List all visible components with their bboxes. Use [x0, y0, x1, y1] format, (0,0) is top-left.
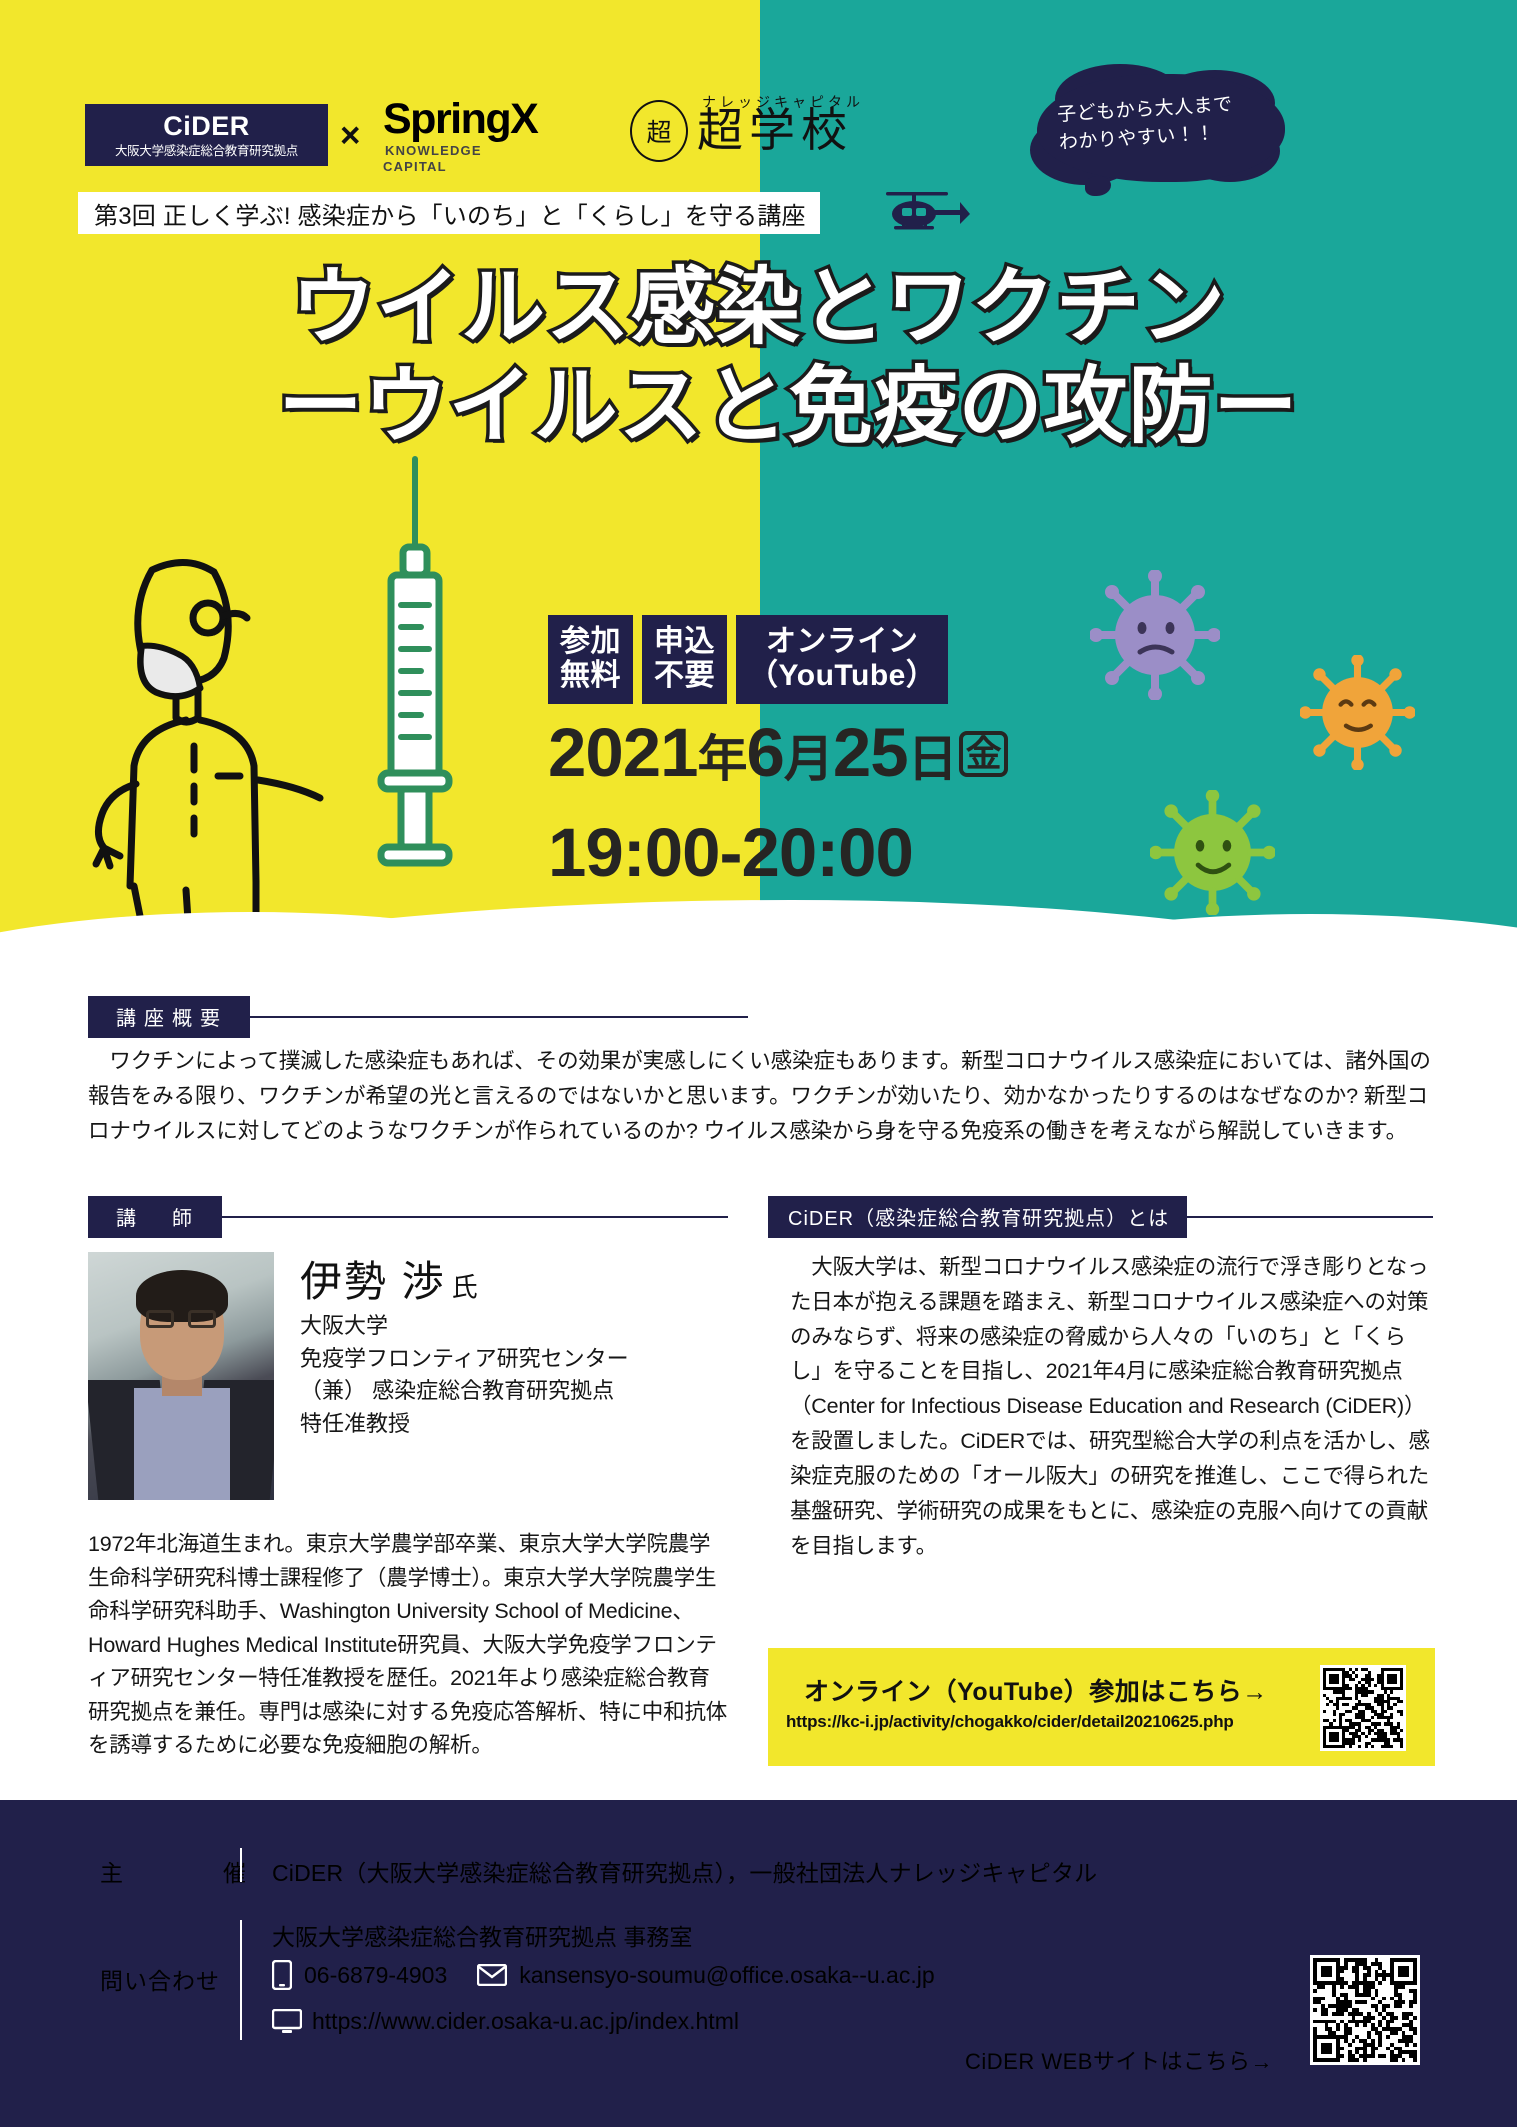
- cho-circle-icon: 超: [630, 100, 688, 162]
- footer-host-value: CiDER（大阪大学感染症総合教育研究拠点），一般社団法人ナレッジキャピタル: [272, 1854, 1097, 1888]
- virus-icon-green: [1150, 790, 1275, 915]
- event-month-unit: 月: [784, 731, 833, 787]
- photo-shirt: [134, 1388, 230, 1500]
- badge-format-line1: オンライン: [766, 625, 919, 658]
- badge-fee-line1: 参加: [560, 625, 621, 658]
- badge-registration-line2: 不要: [654, 659, 715, 693]
- footer-email: kansensyo-soumu@office.osaka--u.ac.jp: [519, 1962, 934, 1989]
- monitor-icon: [272, 2009, 302, 2035]
- springx-knowledge: KNOWLEDGE: [385, 143, 537, 159]
- event-year-unit: 年: [698, 731, 747, 787]
- footer-website[interactable]: https://www.cider.osaka-u.ac.jp/index.ht…: [312, 2008, 739, 2035]
- overview-heading-label: 講座概要: [88, 996, 250, 1038]
- cider-logo-main: CiDER: [163, 113, 250, 140]
- lecturer-heading-rule: [222, 1216, 728, 1218]
- info-badges: 参加 無料 申込 不要 オンライン （YouTube）: [548, 615, 948, 704]
- series-subtitle: 第3回 正しく学ぶ! 感染症から「いのち」と「くらし」を守る講座: [94, 196, 806, 231]
- photo-glasses-left: [146, 1310, 174, 1328]
- badge-format-line2: （YouTube）: [748, 659, 936, 693]
- cta-url[interactable]: https://kc-i.jp/activity/chogakko/cider/…: [786, 1712, 1234, 1732]
- virus-icon-orange: [1300, 655, 1415, 770]
- badge-fee: 参加 無料: [548, 615, 633, 704]
- springx-wordmark: SpringX: [383, 98, 537, 141]
- cider-logo: CiDER 大阪大学感染症総合教育研究拠点: [85, 104, 328, 166]
- cider-about-heading-rule: [1187, 1216, 1433, 1218]
- event-day-unit: 日: [908, 731, 957, 787]
- badge-fee-line2: 無料: [560, 659, 621, 693]
- overview-heading-rule: [250, 1016, 748, 1018]
- footer-qr-caption: CiDER WEBサイトはこちら→: [965, 2044, 1273, 2076]
- event-day: 25: [833, 714, 908, 791]
- cider-about-body: 大阪大学は、新型コロナウイルス感染症の流行で浮き彫りとなった日本が抱える課題を踏…: [790, 1250, 1435, 1563]
- lecturer-bio: 1972年北海道生まれ。東京大学農学部卒業、東京大学大学院農学生命科学研究科博士…: [88, 1528, 728, 1763]
- footer-web-row: https://www.cider.osaka-u.ac.jp/index.ht…: [272, 2008, 739, 2035]
- overview-heading: 講座概要: [88, 996, 748, 1038]
- syringe-icon: [355, 455, 475, 875]
- mail-icon: [477, 1964, 507, 1986]
- event-month: 6: [747, 714, 784, 791]
- doctor-illustration: [90, 540, 390, 920]
- lecturer-name-row: 伊勢 渉氏: [300, 1248, 478, 1309]
- series-subtitle-bar: 第3回 正しく学ぶ! 感染症から「いのち」と「くらし」を守る講座: [78, 192, 820, 234]
- event-date: 2021年6月25日金: [548, 718, 1008, 787]
- event-time: 19:00-20:00: [548, 818, 913, 887]
- chogakko-wordmark: 超学校: [697, 108, 853, 154]
- poster: CiDER 大阪大学感染症総合教育研究拠点 × SpringX KNOWLEDG…: [0, 0, 1517, 2127]
- footer-office: 大阪大学感染症総合教育研究拠点 事務室: [272, 1918, 692, 1952]
- badge-registration-line1: 申込: [654, 625, 715, 658]
- lecturer-photo: [88, 1252, 274, 1500]
- lecturer-heading-label: 講 師: [88, 1196, 222, 1238]
- event-year: 2021: [548, 714, 698, 791]
- event-weekday: 金: [959, 731, 1008, 777]
- springx-logo: SpringX KNOWLEDGE CAPITAL: [383, 98, 537, 176]
- qr-code-cta[interactable]: [1320, 1665, 1406, 1751]
- footer-phone: 06-6879-4903: [304, 1962, 447, 1989]
- springx-capital: CAPITAL: [383, 159, 537, 175]
- photo-glasses-right: [188, 1310, 216, 1328]
- footer-contact-row: 06-6879-4903 kansensyo-soumu@office.osak…: [272, 1960, 935, 1990]
- cider-about-heading-label: CiDER（感染症総合教育研究拠点）とは: [768, 1196, 1187, 1238]
- lecturer-name: 伊勢 渉: [300, 1258, 446, 1305]
- overview-body: ワクチンによって撲滅した感染症もあれば、その効果が実感しにくい感染症もあります。…: [88, 1044, 1433, 1148]
- virus-icon-purple: [1090, 570, 1220, 700]
- qr-code-footer[interactable]: [1310, 1955, 1420, 2065]
- lecturer-affiliation: 大阪大学 免疫学フロンティア研究センター （兼） 感染症総合教育研究拠点 特任准…: [300, 1310, 720, 1440]
- cross-icon: ×: [340, 118, 360, 153]
- badge-format: オンライン （YouTube）: [736, 615, 948, 704]
- cta-title: オンライン（YouTube）参加はこちら→: [804, 1672, 1268, 1708]
- footer-divider-2: [240, 1920, 242, 2040]
- footer-contact-label: 問い合わせ: [100, 1962, 220, 1996]
- lecturer-name-suffix: 氏: [452, 1272, 478, 1302]
- cider-about-heading: CiDER（感染症総合教育研究拠点）とは: [768, 1196, 1433, 1238]
- phone-icon: [272, 1960, 292, 1990]
- badge-registration: 申込 不要: [642, 615, 727, 704]
- lecturer-heading: 講 師: [88, 1196, 728, 1238]
- footer-divider-1: [240, 1848, 242, 1882]
- helicopter-icon: [880, 188, 976, 234]
- cider-logo-sub: 大阪大学感染症総合教育研究拠点: [115, 145, 298, 158]
